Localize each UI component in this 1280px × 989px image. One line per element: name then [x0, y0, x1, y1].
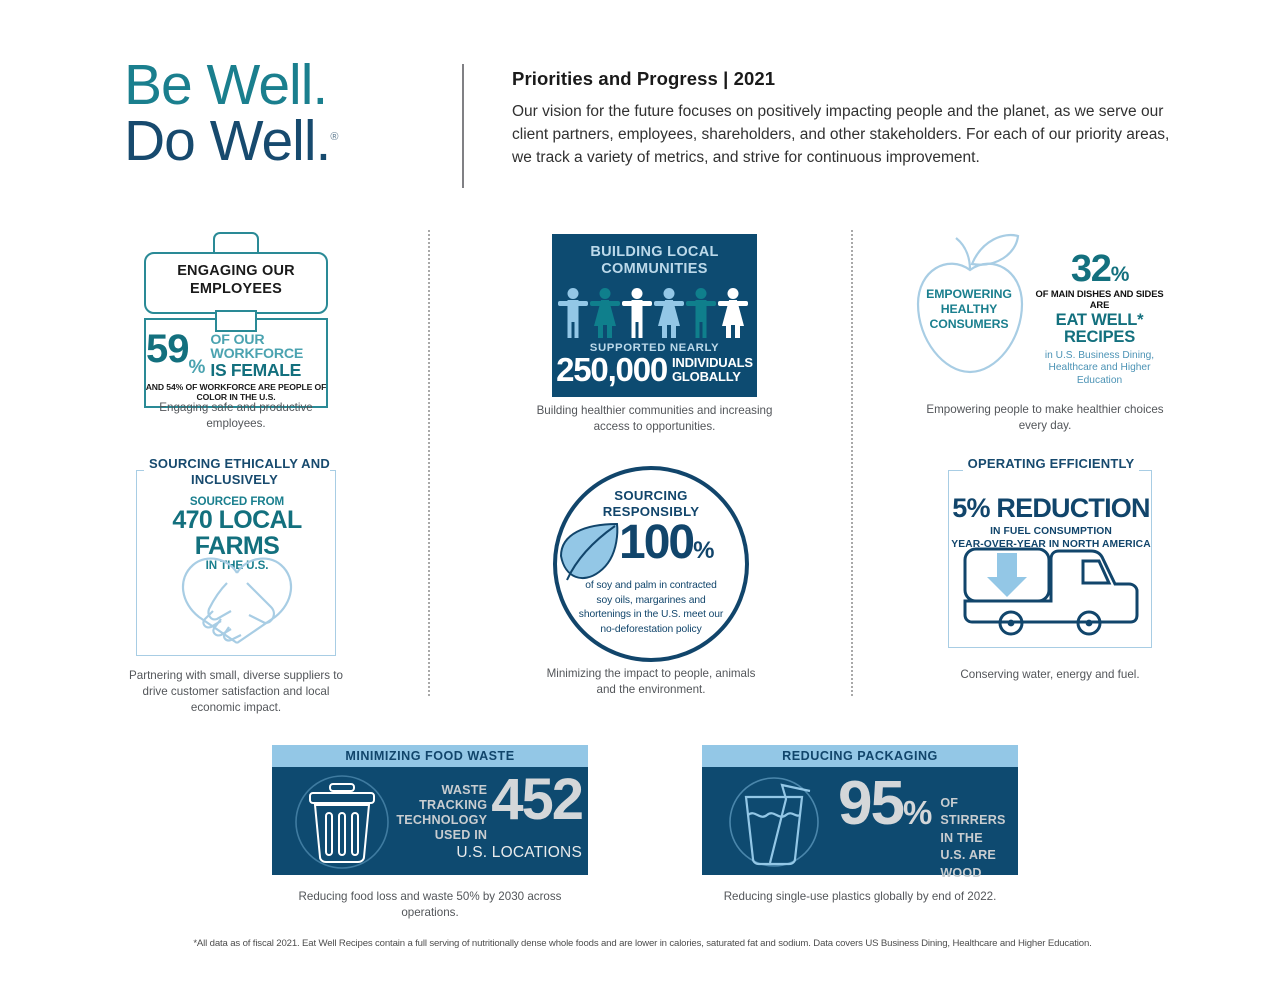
stat-number-100: 100%: [619, 521, 712, 564]
stat-words-waste-tracking: WASTE TRACKING TECHNOLOGY USED IN: [396, 777, 487, 842]
card-title-engaging: ENGAGING OUR EMPLOYEES: [148, 263, 324, 298]
stat-percent-sign: %: [693, 537, 712, 564]
stat-sub-business-dining: in U.S. Business Dining, Healthcare and …: [1026, 350, 1173, 387]
stat-number-95: 95%: [838, 779, 930, 830]
stat-line-tracking: TRACKING: [396, 798, 487, 813]
tile-header-packaging: REDUCING PACKAGING: [702, 745, 1018, 767]
stat-line-fuel-consumption: IN FUEL CONSUMPTION: [939, 525, 1163, 538]
card-minimizing-food-waste: MINIMIZING FOOD WASTE WASTE TRACKING TEC…: [272, 745, 588, 875]
caption-sourcing-responsibly: Minimizing the impact to people, animals…: [536, 666, 766, 698]
card-sourcing-ethically: SOURCING ETHICALLY AND INCLUSIVELY SOURC…: [136, 470, 336, 656]
tile-body-packaging: 95% OF STIRRERS IN THE U.S. ARE WOOD: [702, 767, 1018, 875]
stat-subtext-people-of-color: AND 54% OF WORKFORCE ARE PEOPLE OF COLOR…: [144, 382, 328, 402]
card-title-sourcing-responsibly: SOURCING RESPONSIBLY: [581, 488, 721, 520]
card-title-operating-efficiently: OPERATING EFFICIENTLY: [933, 456, 1169, 472]
stat-line-individuals: INDIVIDUALS: [672, 356, 753, 370]
caption-packaging: Reducing single-use plastics globally by…: [702, 889, 1018, 905]
stat-percent-sign: %: [903, 794, 930, 831]
stat-line-us-are: U.S. ARE: [940, 847, 1014, 864]
caption-communities: Building healthier communities and incre…: [522, 403, 787, 435]
registered-trademark-icon: ®: [330, 131, 337, 143]
truck-down-arrow-icon: [963, 543, 1139, 639]
stat-line-used-in: USED IN: [396, 828, 487, 843]
logo-line-be-well: Be Well.: [124, 58, 434, 114]
stat-number-250000: 250,000: [556, 356, 667, 384]
stat-number-59: 59: [146, 332, 189, 366]
caption-engaging: Engaging safe and productive employees.: [136, 400, 336, 432]
tile-body-food-waste: WASTE TRACKING TECHNOLOGY USED IN 452 U.…: [272, 767, 588, 875]
card-sourcing-responsibly: SOURCING RESPONSIBLY 100% of soy and pal…: [553, 466, 749, 662]
stat-text-lines: OF OUR WORKFORCE IS FEMALE: [210, 332, 326, 380]
stat-line-eat-well: EAT WELL*: [1026, 312, 1173, 329]
briefcase-handle-icon: [213, 232, 259, 254]
stat-line-technology: TECHNOLOGY: [396, 813, 487, 828]
stat-eat-well-recipes: EAT WELL* RECIPES: [1026, 312, 1173, 347]
briefcase-clasp-icon: [215, 310, 257, 332]
stat-words-stirrers: OF STIRRERS IN THE U.S. ARE WOOD: [940, 779, 1014, 882]
glass-straw-icon: [724, 775, 824, 869]
stat-number-452: 452: [491, 777, 582, 822]
caption-food-waste: Reducing food loss and waste 50% by 2030…: [272, 889, 588, 921]
stat-row-food-waste: WASTE TRACKING TECHNOLOGY USED IN 452: [422, 777, 582, 842]
handshake-heart-icon: [169, 553, 305, 645]
card-title-communities: BUILDING LOCAL COMMUNITIES: [560, 244, 749, 278]
card-empowering-healthy-consumers: EMPOWERING HEALTHY CONSUMERS 32% OF MAIN…: [908, 230, 1173, 380]
page-intro-paragraph: Our vision for the future focuses on pos…: [512, 101, 1182, 169]
stat-number-32: 32%: [1026, 252, 1173, 287]
stat-line-wood: WOOD: [940, 865, 1014, 882]
apple-label-empowering: EMPOWERING HEALTHY CONSUMERS: [914, 287, 1024, 332]
stat-line-in-the: IN THE: [940, 830, 1014, 847]
column-divider-right: [851, 230, 853, 696]
column-divider-left: [428, 230, 430, 696]
page-title: Priorities and Progress | 2021: [512, 68, 1182, 90]
logo-line-do-well: Do Well.®: [124, 114, 434, 170]
tile-header-food-waste: MINIMIZING FOOD WASTE: [272, 745, 588, 767]
card-operating-efficiently: OPERATING EFFICIENTLY 5% REDUCTION IN FU…: [948, 470, 1152, 648]
stat-line-recipes: RECIPES: [1026, 329, 1173, 346]
stat-block-apple: 32% OF MAIN DISHES AND SIDES ARE EAT WEL…: [1026, 252, 1173, 387]
people-holding-hands-icon: [558, 286, 751, 338]
person-figure: [654, 288, 684, 338]
stat-percent-sign: %: [189, 358, 206, 380]
brand-logo: Be Well. Do Well.®: [124, 58, 434, 170]
person-figure: [718, 288, 748, 338]
header-text-block: Priorities and Progress | 2021 Our visio…: [512, 68, 1182, 169]
stat-line-of-stirrers: OF STIRRERS: [940, 795, 1014, 830]
trash-can-icon: [290, 773, 394, 871]
stat-line-is-female: IS FEMALE: [210, 362, 326, 380]
person-figure: [686, 288, 716, 338]
stat-5-percent-reduction: 5% REDUCTION: [939, 495, 1163, 523]
stat-row-engaging: 59 % OF OUR WORKFORCE IS FEMALE: [146, 332, 326, 380]
card-reducing-packaging: REDUCING PACKAGING 95% OF STIRRERS IN TH…: [702, 745, 1018, 875]
header-vertical-divider: [462, 64, 464, 188]
person-figure: [590, 288, 620, 338]
stat-row-communities: 250,000 INDIVIDUALS GLOBALLY: [558, 356, 751, 384]
footnote-disclaimer: *All data as of fiscal 2021. Eat Well Re…: [185, 938, 1100, 949]
stat-percent-sign: %: [1111, 263, 1128, 286]
caption-operating-efficiently: Conserving water, energy and fuel.: [948, 667, 1152, 683]
person-figure: [558, 288, 588, 338]
stat-text-individuals-globally: INDIVIDUALS GLOBALLY: [672, 356, 753, 383]
stat-body-no-deforestation: of soy and palm in contracted soy oils, …: [577, 579, 725, 637]
stat-number-470-local-farms: 470 LOCAL FARMS: [141, 508, 333, 559]
card-title-sourcing-ethically: SOURCING ETHICALLY AND INCLUSIVELY: [123, 456, 351, 488]
caption-healthy-consumers: Empowering people to make healthier choi…: [920, 402, 1170, 434]
stat-line-workforce: OF OUR WORKFORCE: [210, 333, 326, 362]
caption-sourcing-ethically: Partnering with small, diverse suppliers…: [126, 668, 346, 716]
stat-row-packaging: 95% OF STIRRERS IN THE U.S. ARE WOOD: [838, 779, 1014, 882]
person-figure: [622, 288, 652, 338]
stat-block-food-waste: WASTE TRACKING TECHNOLOGY USED IN 452 U.…: [422, 777, 582, 862]
stat-line-waste: WASTE: [396, 783, 487, 798]
card-building-local-communities: BUILDING LOCAL COMMUNITIES: [552, 234, 757, 397]
stat-line-us-locations: U.S. LOCATIONS: [422, 844, 582, 862]
stat-line-globally: GLOBALLY: [672, 370, 753, 384]
stat-sub-main-dishes: OF MAIN DISHES AND SIDES ARE: [1026, 288, 1173, 310]
